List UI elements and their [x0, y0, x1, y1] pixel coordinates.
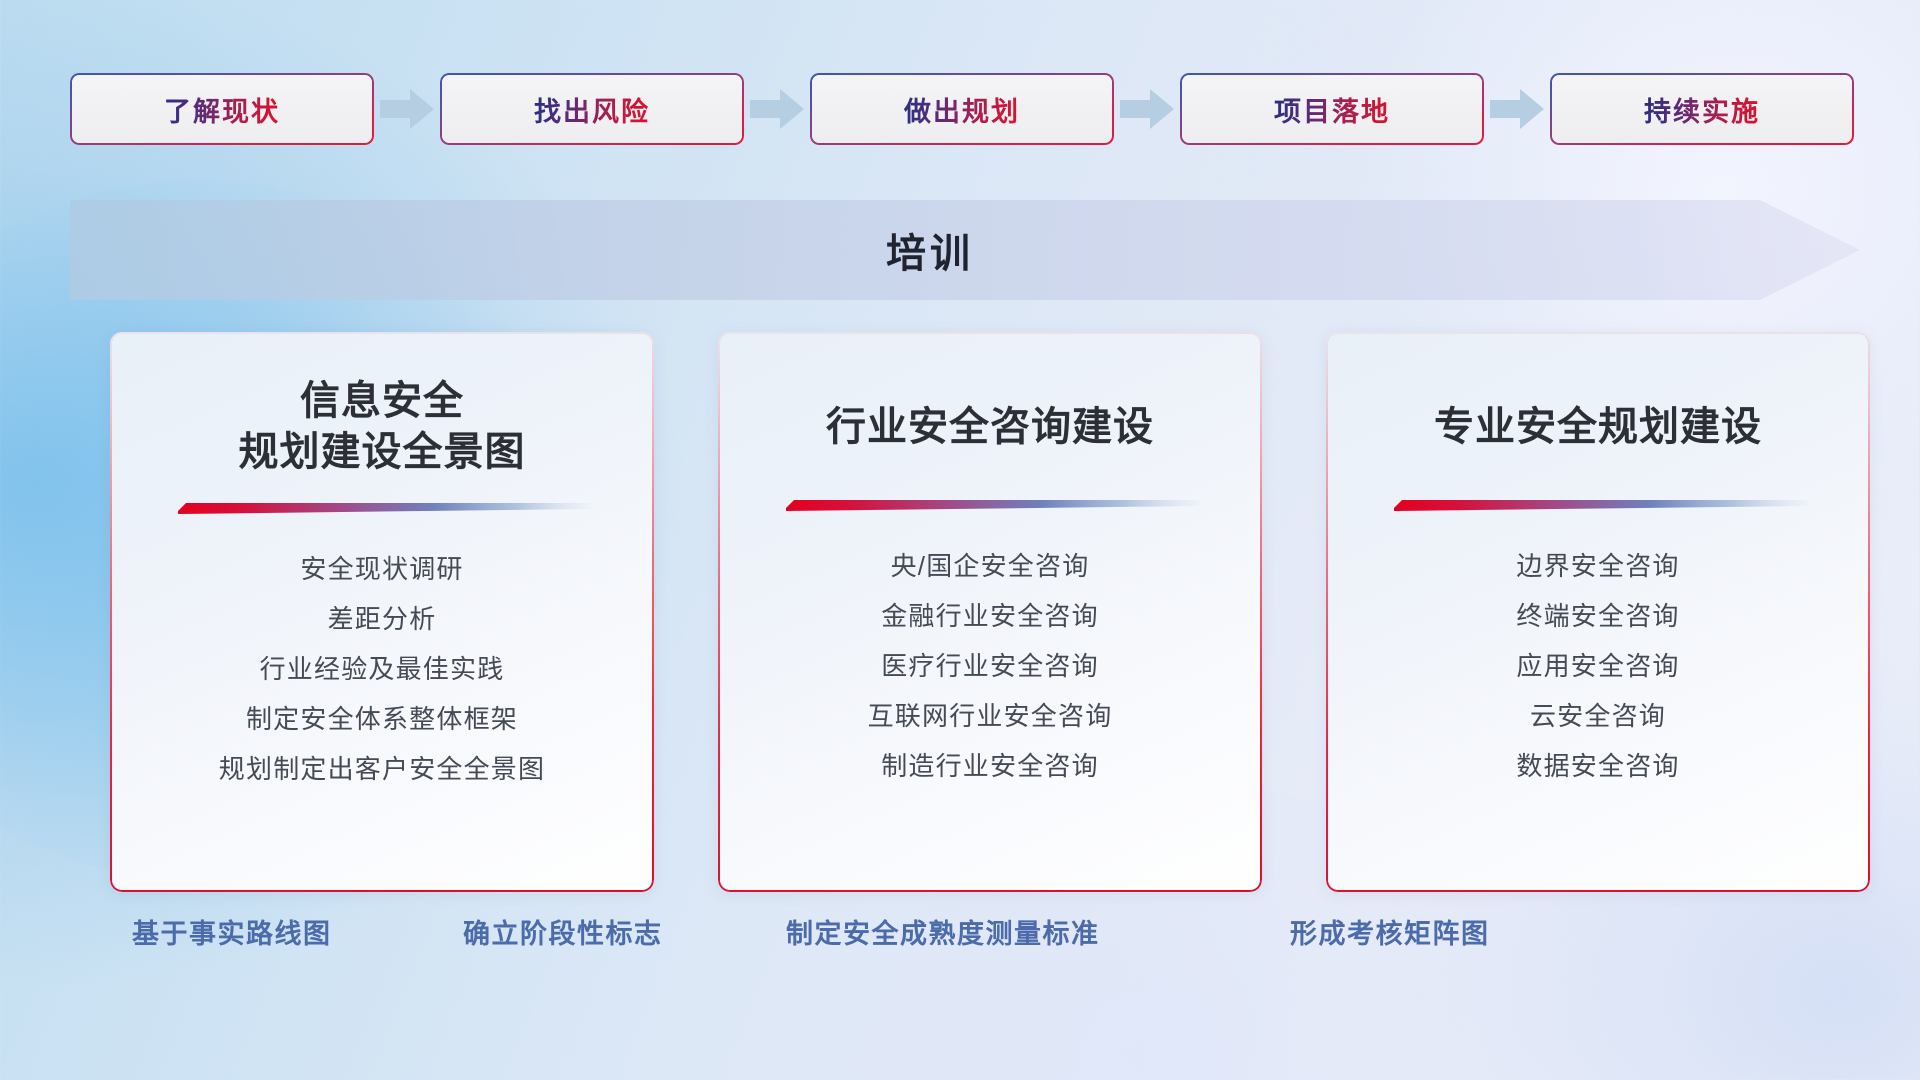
card-title-0: 信息安全 规划建设全景图 [239, 376, 526, 478]
card-title-line1-1: 行业安全咨询建设 [826, 402, 1154, 453]
card-row: 信息安全 规划建设全景图 [110, 332, 1870, 892]
training-banner: 培训 [70, 200, 1860, 300]
list-item: 应用安全咨询 [1352, 641, 1844, 691]
card-title-line1-0: 信息安全 [239, 376, 526, 427]
step-label-2: 做出规划 [904, 90, 1020, 129]
step-inner-0: 了解现状 [72, 75, 372, 143]
list-item: 云安全咨询 [1352, 691, 1844, 741]
process-step-row: 了解现状 找出风险 做出规划 项目落地 [70, 70, 1860, 148]
list-item: 金融行业安全咨询 [744, 591, 1236, 641]
step-box-3[interactable]: 项目落地 [1180, 73, 1484, 145]
list-item: 制定安全体系整体框架 [136, 694, 628, 744]
step-label-0: 了解现状 [164, 90, 280, 129]
card-title-line1-2: 专业安全规划建设 [1434, 402, 1762, 453]
list-item: 互联网行业安全咨询 [744, 691, 1236, 741]
card-list-1: 央/国企安全咨询 金融行业安全咨询 医疗行业安全咨询 互联网行业安全咨询 制造行… [744, 541, 1236, 791]
card-list-0: 安全现状调研 差距分析 行业经验及最佳实践 制定安全体系整体框架 规划制定出客户… [136, 544, 628, 794]
list-item: 行业经验及最佳实践 [136, 644, 628, 694]
outcome-label-row: 基于事实路线图 确立阶段性标志 制定安全成熟度测量标准 形成考核矩阵图 [0, 912, 1920, 972]
card-title-1: 行业安全咨询建设 [826, 402, 1154, 453]
step-inner-3: 项目落地 [1182, 75, 1482, 143]
list-item: 终端安全咨询 [1352, 591, 1844, 641]
card-0[interactable]: 信息安全 规划建设全景图 [110, 332, 654, 892]
step-inner-2: 做出规划 [812, 75, 1112, 143]
outcome-label-0: 基于事实路线图 [132, 912, 332, 951]
step-box-2[interactable]: 做出规划 [810, 73, 1114, 145]
card-divider-0 [136, 500, 628, 516]
arrow-right-icon [1114, 86, 1180, 132]
step-label-3: 项目落地 [1274, 90, 1390, 129]
list-item: 医疗行业安全咨询 [744, 641, 1236, 691]
card-body-0: 信息安全 规划建设全景图 [110, 332, 654, 892]
step-box-0[interactable]: 了解现状 [70, 73, 374, 145]
arrow-right-icon [1484, 86, 1550, 132]
arrow-right-icon [374, 86, 440, 132]
outcome-label-3: 形成考核矩阵图 [1290, 912, 1490, 951]
banner-title: 培训 [70, 200, 1860, 300]
outcome-label-2: 制定安全成熟度测量标准 [786, 912, 1100, 951]
card-list-2: 边界安全咨询 终端安全咨询 应用安全咨询 云安全咨询 数据安全咨询 [1352, 541, 1844, 791]
card-1[interactable]: 行业安全咨询建设 [718, 332, 1262, 892]
list-item: 规划制定出客户安全全景图 [136, 744, 628, 794]
card-2[interactable]: 专业安全规划建设 [1326, 332, 1870, 892]
list-item: 数据安全咨询 [1352, 741, 1844, 791]
step-box-4[interactable]: 持续实施 [1550, 73, 1854, 145]
step-inner-4: 持续实施 [1552, 75, 1852, 143]
step-label-1: 找出风险 [534, 90, 650, 129]
list-item: 边界安全咨询 [1352, 541, 1844, 591]
arrow-right-icon [744, 86, 810, 132]
card-title-2: 专业安全规划建设 [1434, 402, 1762, 453]
list-item: 央/国企安全咨询 [744, 541, 1236, 591]
step-inner-1: 找出风险 [442, 75, 742, 143]
step-box-1[interactable]: 找出风险 [440, 73, 744, 145]
card-title-line2-0: 规划建设全景图 [239, 427, 526, 478]
list-item: 安全现状调研 [136, 544, 628, 594]
step-label-4: 持续实施 [1644, 90, 1760, 129]
card-divider-2 [1352, 497, 1844, 513]
card-divider-1 [744, 497, 1236, 513]
outcome-label-1: 确立阶段性标志 [463, 912, 663, 951]
card-body-1: 行业安全咨询建设 [718, 332, 1262, 892]
card-body-2: 专业安全规划建设 [1326, 332, 1870, 892]
list-item: 差距分析 [136, 594, 628, 644]
list-item: 制造行业安全咨询 [744, 741, 1236, 791]
